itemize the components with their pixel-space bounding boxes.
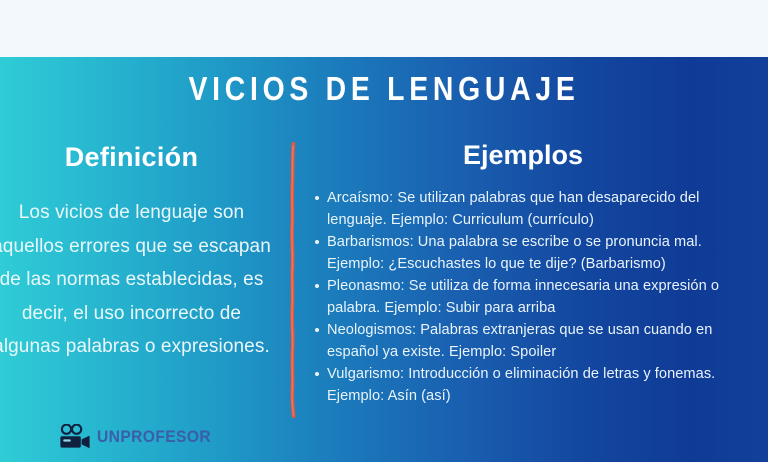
bullet-dot-icon [315,328,319,332]
list-item-text: Arcaísmo: Se utilizan palabras que han d… [327,190,699,228]
brand-logo-text: UNPROFESOR [97,427,211,447]
top-strip [0,0,768,57]
movie-camera-icon [58,424,92,450]
list-item: Arcaísmo: Se utilizan palabras que han d… [300,188,768,231]
examples-column: Ejemplos Arcaísmo: Se utilizan palabras … [300,138,768,408]
brand-logo[interactable]: UNPROFESOR [58,424,221,450]
bullet-dot-icon [315,196,319,200]
definition-body-text: Los vicios de lenguaje son aquellos erro… [0,196,279,364]
examples-heading: Ejemplos [300,138,768,172]
infographic-canvas: VICIOS DE LENGUAJE Definición Los vicios… [0,0,768,462]
bullet-dot-icon [315,372,319,376]
list-item-text: Pleonasmo: Se utiliza de forma innecesar… [327,278,719,316]
list-item-text: Vulgarismo: Introducción o eliminación d… [327,366,715,404]
list-item-text: Barbarismos: Una palabra se escribe o se… [327,234,702,272]
definition-column: Definición Los vicios de lenguaje son aq… [0,140,279,364]
examples-list: Arcaísmo: Se utilizan palabras que han d… [300,188,768,407]
page-title: VICIOS DE LENGUAJE [54,69,714,109]
list-item-text: Neologismos: Palabras extranjeras que se… [327,322,712,360]
bullet-dot-icon [315,284,319,288]
bullet-dot-icon [315,240,319,244]
list-item: Vulgarismo: Introducción o eliminación d… [300,364,768,407]
list-item: Neologismos: Palabras extranjeras que se… [300,320,768,363]
list-item: Barbarismos: Una palabra se escribe o se… [300,232,768,275]
definition-heading: Definición [0,140,279,174]
list-item: Pleonasmo: Se utiliza de forma innecesar… [300,276,768,319]
